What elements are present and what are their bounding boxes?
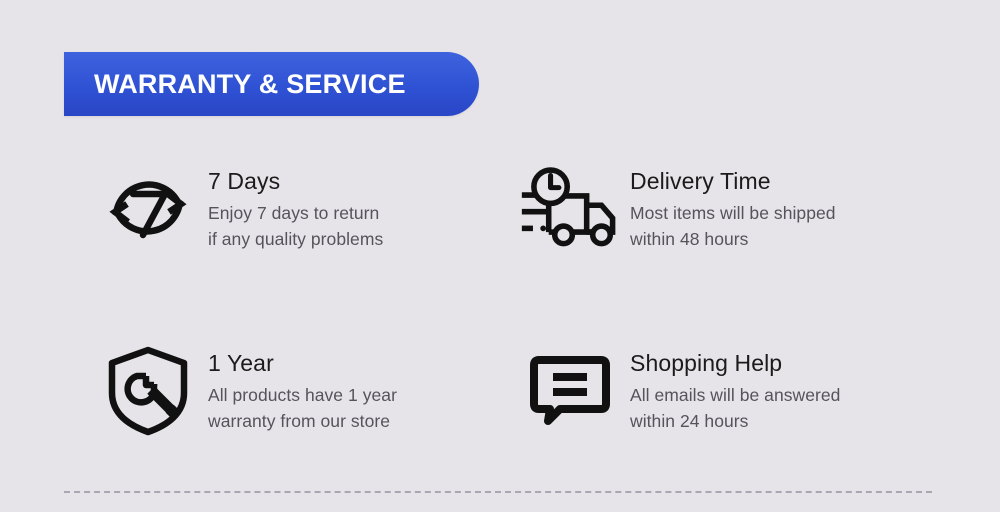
feature-description: All emails will be answered within 24 ho… bbox=[630, 383, 840, 435]
feature-description-line2: warranty from our store bbox=[208, 409, 397, 435]
feature-item-1-year: 1 Year All products have 1 year warranty… bbox=[98, 340, 518, 440]
seven-days-return-icon bbox=[98, 158, 198, 258]
feature-description-line2: within 24 hours bbox=[630, 409, 840, 435]
feature-description: Most items will be shipped within 48 hou… bbox=[630, 201, 836, 253]
feature-description-line2: if any quality problems bbox=[208, 227, 383, 253]
feature-description: All products have 1 year warranty from o… bbox=[208, 383, 397, 435]
feature-description-line2: within 48 hours bbox=[630, 227, 836, 253]
feature-title: 7 Days bbox=[208, 168, 383, 195]
warranty-service-banner: WARRANTY & SERVICE bbox=[64, 52, 479, 116]
feature-title: 1 Year bbox=[208, 350, 397, 377]
banner-title: WARRANTY & SERVICE bbox=[94, 69, 406, 100]
shield-wrench-icon bbox=[98, 340, 198, 440]
feature-description: Enjoy 7 days to return if any quality pr… bbox=[208, 201, 383, 253]
feature-item-shopping-help: Shopping Help All emails will be answere… bbox=[520, 340, 940, 440]
feature-description-line1: Enjoy 7 days to return bbox=[208, 201, 383, 227]
delivery-truck-icon bbox=[520, 158, 620, 258]
feature-description-line1: All emails will be answered bbox=[630, 383, 840, 409]
feature-text: Shopping Help All emails will be answere… bbox=[630, 340, 840, 435]
feature-description-line1: All products have 1 year bbox=[208, 383, 397, 409]
feature-text: 1 Year All products have 1 year warranty… bbox=[208, 340, 397, 435]
feature-grid: 7 Days Enjoy 7 days to return if any qua… bbox=[0, 150, 1000, 470]
feature-text: 7 Days Enjoy 7 days to return if any qua… bbox=[208, 158, 383, 253]
feature-title: Shopping Help bbox=[630, 350, 840, 377]
feature-item-delivery-time: Delivery Time Most items will be shipped… bbox=[520, 158, 940, 258]
feature-title: Delivery Time bbox=[630, 168, 836, 195]
chat-bubble-icon bbox=[520, 340, 620, 440]
feature-text: Delivery Time Most items will be shipped… bbox=[630, 158, 836, 253]
feature-item-7-days: 7 Days Enjoy 7 days to return if any qua… bbox=[98, 158, 518, 258]
bottom-dashed-divider bbox=[64, 491, 932, 493]
feature-description-line1: Most items will be shipped bbox=[630, 201, 836, 227]
